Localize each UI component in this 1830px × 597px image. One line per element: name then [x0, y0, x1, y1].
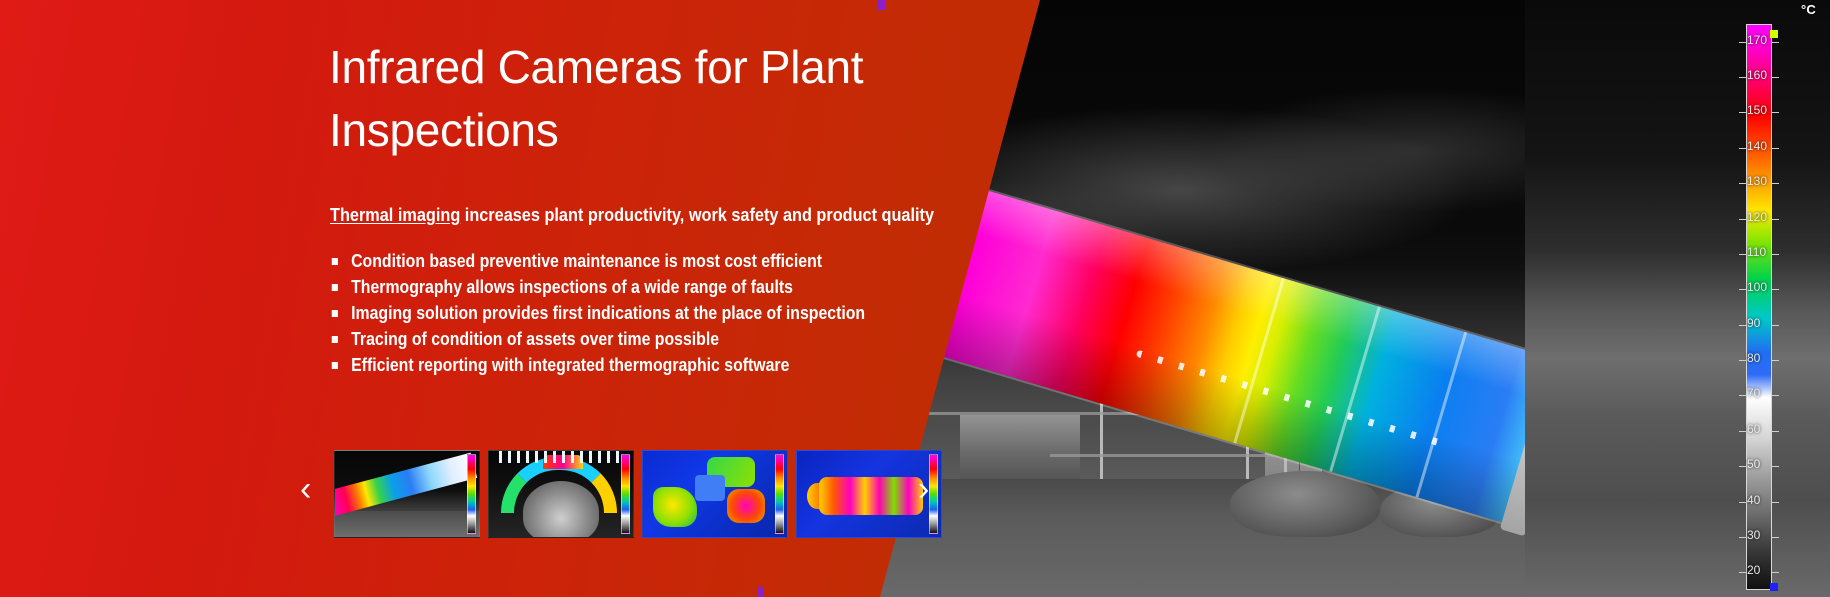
thumb-thermal-shaft — [819, 477, 923, 515]
temperature-tick-label: 50 — [1747, 457, 1793, 471]
thumb-color-scale — [621, 454, 630, 534]
temperature-tick-right — [1772, 148, 1779, 149]
temperature-tick: 80 — [1739, 360, 1746, 361]
thumb-hot-region — [653, 487, 697, 527]
temperature-tick: 70 — [1739, 395, 1746, 396]
temperature-tick-label: 60 — [1747, 422, 1793, 436]
temperature-tick-right — [1772, 325, 1779, 326]
temperature-tick-label: 30 — [1747, 528, 1793, 542]
bullet-square-icon — [332, 258, 338, 265]
temperature-tick-label: 20 — [1747, 563, 1793, 577]
temperature-tick-label: 120 — [1747, 210, 1793, 224]
list-item-label: Condition based preventive maintenance i… — [351, 251, 822, 271]
temperature-tick-right — [1772, 219, 1779, 220]
thumbnail-carousel: ‹ — [300, 450, 920, 550]
thumb-thermal-pipe — [334, 453, 477, 517]
temperature-scale-panel: °C 1701601501401301201101009080706050403… — [1525, 0, 1830, 597]
temperature-tick: 100 — [1739, 289, 1746, 290]
chevron-left-icon[interactable]: ‹ — [300, 472, 311, 506]
list-item-label: Tracing of condition of assets over time… — [351, 329, 719, 349]
temperature-tick-right — [1772, 572, 1779, 573]
temperature-tick-right — [1772, 466, 1779, 467]
thumb-color-scale — [929, 454, 938, 534]
thumb-hotspot — [727, 489, 765, 523]
bullet-square-icon — [332, 310, 338, 317]
temperature-tick-group: 1701601501401301201101009080706050403020 — [1746, 24, 1772, 590]
list-item: Thermography allows inspections of a wid… — [330, 274, 911, 300]
temperature-tick-label: 130 — [1747, 174, 1793, 188]
thumb-color-scale — [775, 454, 784, 534]
temperature-tick-label: 80 — [1747, 351, 1793, 365]
temperature-tick-right — [1772, 112, 1779, 113]
thumb-cool-region — [695, 475, 725, 501]
temperature-tick-label: 150 — [1747, 103, 1793, 117]
thermal-imaging-link[interactable]: Thermal imaging — [330, 204, 460, 225]
list-item: Imaging solution provides first indicati… — [330, 300, 911, 326]
thumb-stator-teeth — [499, 451, 621, 463]
list-item: Condition based preventive maintenance i… — [330, 248, 911, 274]
plant-bush — [1230, 471, 1380, 537]
temperature-tick: 150 — [1739, 112, 1746, 113]
temperature-tick-label: 90 — [1747, 316, 1793, 330]
temperature-tick: 90 — [1739, 325, 1746, 326]
temperature-tick: 130 — [1739, 183, 1746, 184]
list-item[interactable] — [488, 450, 634, 538]
temperature-tick: 140 — [1739, 148, 1746, 149]
bullet-square-icon — [332, 336, 338, 343]
lede-paragraph: Thermal imaging increases plant producti… — [330, 203, 893, 227]
temperature-tick-right — [1772, 183, 1779, 184]
temperature-tick-right — [1772, 502, 1779, 503]
temperature-tick-label: 170 — [1747, 33, 1793, 47]
temperature-tick: 120 — [1739, 219, 1746, 220]
temperature-tick: 50 — [1739, 466, 1746, 467]
temperature-tick: 160 — [1739, 77, 1746, 78]
bullet-square-icon — [332, 362, 338, 369]
temperature-tick: 20 — [1739, 572, 1746, 573]
temperature-tick-right — [1772, 431, 1779, 432]
temperature-tick-right — [1772, 395, 1779, 396]
chevron-right-icon[interactable]: › — [918, 472, 929, 506]
scale-panel-background — [1525, 0, 1830, 597]
temperature-tick: 60 — [1739, 431, 1746, 432]
page-title: Infrared Cameras for Plant Inspections — [329, 36, 949, 161]
benefits-bullet-list: Condition based preventive maintenance i… — [330, 248, 990, 378]
thumb-ground — [335, 511, 479, 537]
temperature-tick-label: 160 — [1747, 68, 1793, 82]
temperature-tick: 170 — [1739, 42, 1746, 43]
temperature-tick-label: 40 — [1747, 493, 1793, 507]
temperature-tick-label: 110 — [1747, 245, 1793, 259]
temperature-tick-right — [1772, 537, 1779, 538]
list-item: Tracing of condition of assets over time… — [330, 326, 911, 352]
list-item[interactable] — [334, 450, 480, 538]
temperature-tick-label: 70 — [1747, 386, 1793, 400]
temperature-tick-right — [1772, 289, 1779, 290]
slide-content: Infrared Cameras for Plant Inspections T… — [0, 0, 900, 597]
temperature-tick-right — [1772, 360, 1779, 361]
temperature-tick: 30 — [1739, 537, 1746, 538]
list-item[interactable] — [642, 450, 788, 538]
infrared-cameras-slide: °C 1701601501401301201101009080706050403… — [0, 0, 1830, 597]
temperature-tick-right — [1772, 42, 1779, 43]
list-item: Efficient reporting with integrated ther… — [330, 352, 911, 378]
list-item-label: Thermography allows inspections of a wid… — [351, 277, 793, 297]
temperature-tick: 110 — [1739, 254, 1746, 255]
temperature-tick: 40 — [1739, 502, 1746, 503]
list-item-label: Efficient reporting with integrated ther… — [351, 355, 789, 375]
list-item-label: Imaging solution provides first indicati… — [351, 303, 865, 323]
bullet-square-icon — [332, 284, 338, 291]
thumb-color-scale — [467, 454, 476, 534]
temperature-tick-right — [1772, 254, 1779, 255]
temperature-tick-label: 100 — [1747, 280, 1793, 294]
temperature-tick-label: 140 — [1747, 139, 1793, 153]
thumbnail-strip — [334, 450, 942, 538]
lede-rest-text: increases plant productivity, work safet… — [460, 204, 934, 225]
temperature-unit-label: °C — [1801, 2, 1816, 17]
temperature-tick-right — [1772, 77, 1779, 78]
